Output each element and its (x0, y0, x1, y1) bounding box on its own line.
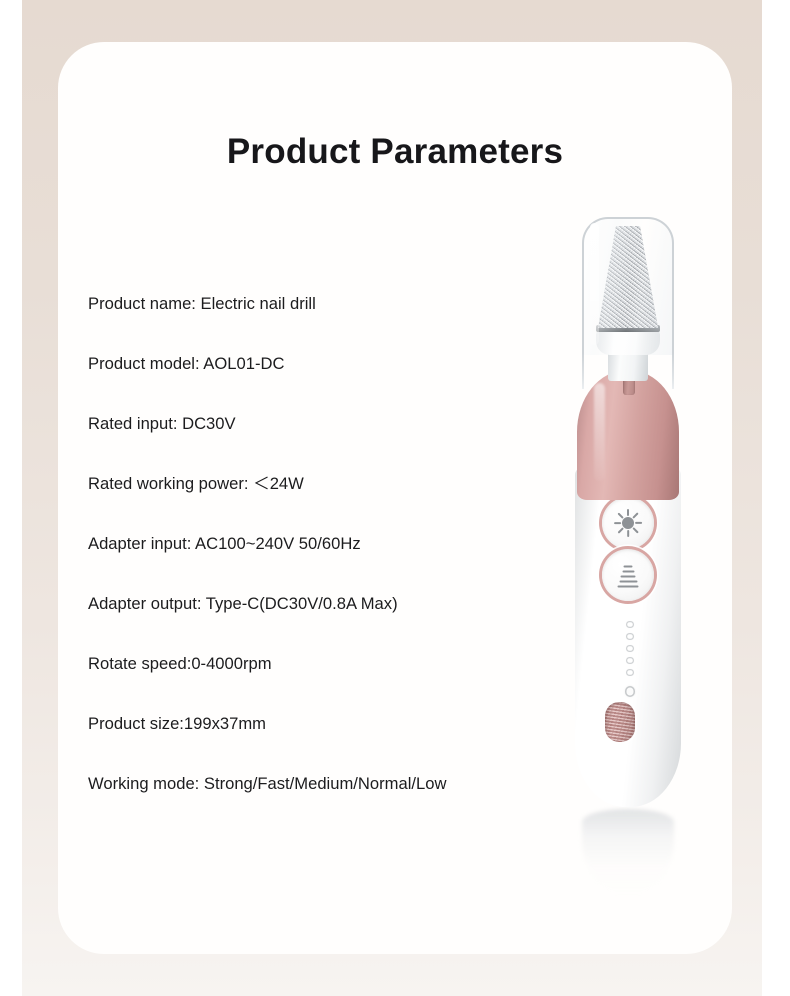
sun-icon-ray (617, 512, 623, 518)
product-parameters-page: Product Parameters Product name: Electri… (0, 0, 790, 996)
product-photo-electric-nail-drill (520, 205, 740, 905)
power-switch[interactable] (605, 702, 635, 742)
sun-icon-ray (627, 530, 629, 537)
cap-highlight (590, 223, 599, 345)
led-indicator-dot (626, 621, 633, 628)
spec-row: Rated input: DC30V (88, 416, 558, 476)
power-light-button[interactable] (602, 497, 654, 549)
spec-row: Rated working power: ＜24W (88, 476, 558, 536)
head-highlight (594, 383, 605, 481)
sun-icon-ray (632, 527, 638, 533)
led-indicator-dot (626, 645, 633, 652)
spec-row: Working mode: Strong/Fast/Medium/Normal/… (88, 776, 558, 836)
page-title: Product Parameters (0, 132, 790, 172)
led-indicator-dot (626, 657, 633, 664)
collar-neck (608, 351, 648, 381)
battery-indicator-dot (625, 686, 636, 697)
spec-row: Rotate speed:0-4000rpm (88, 656, 558, 716)
sun-icon-ray (614, 522, 621, 524)
spec-row: Adapter input: AC100~240V 50/60Hz (88, 536, 558, 596)
spec-row: Product model: AOL01-DC (88, 356, 558, 416)
spec-row: Product size:199x37mm (88, 716, 558, 776)
spec-row: Product name: Electric nail drill (88, 296, 558, 356)
sun-icon-ray (627, 509, 629, 516)
sun-icon-ray (635, 522, 642, 524)
speed-bars-icon (618, 563, 639, 588)
led-indicator-dot (626, 669, 633, 676)
sun-icon-ray (632, 512, 638, 518)
product-reflection (582, 809, 674, 895)
spec-row: Adapter output: Type-C(DC30V/0.8A Max) (88, 596, 558, 656)
speed-level-button[interactable] (602, 549, 654, 601)
sun-icon-ray (617, 527, 623, 533)
specification-list: Product name: Electric nail drill Produc… (88, 296, 558, 836)
led-indicator-dot (626, 633, 633, 640)
